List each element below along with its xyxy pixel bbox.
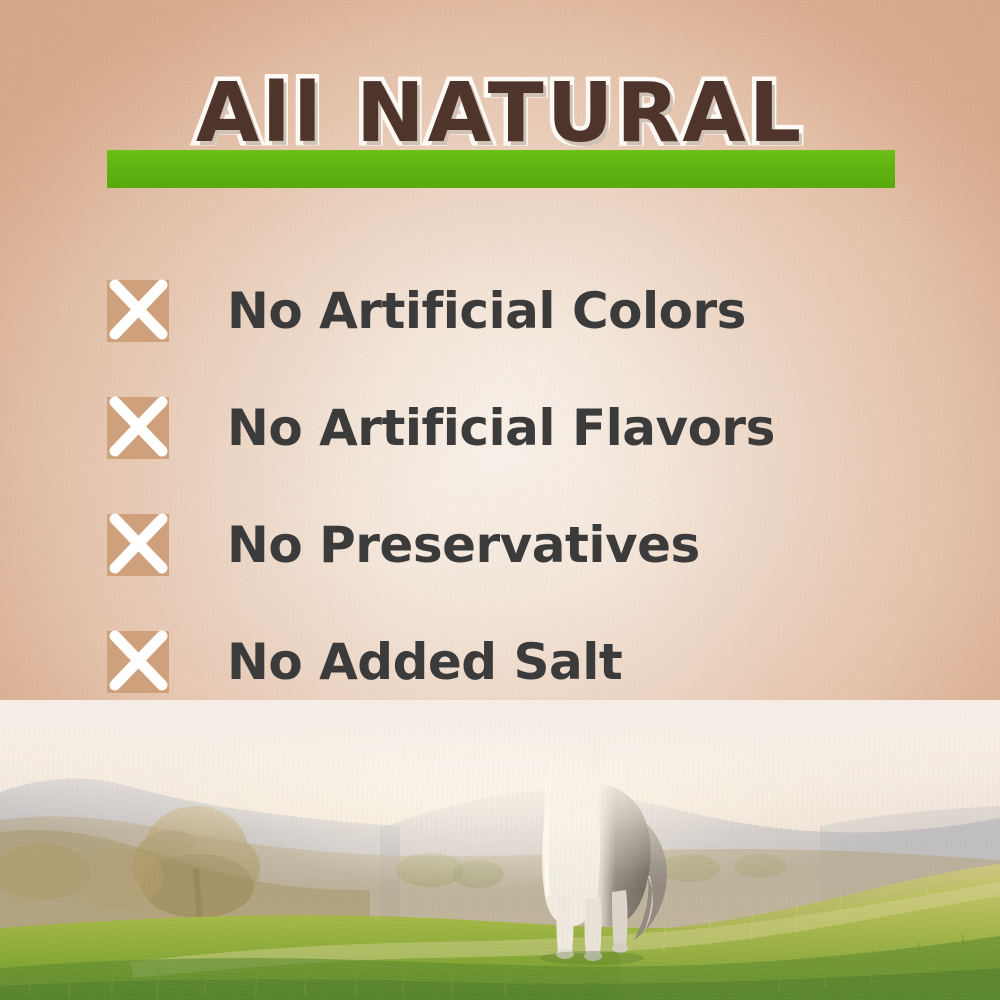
x-mark-icon xyxy=(107,514,169,576)
claim-label: No Preservatives xyxy=(227,517,700,573)
claim-label: No Artificial Colors xyxy=(227,283,746,339)
list-item: No Artificial Flavors xyxy=(107,369,927,486)
page-title: All NATURAL xyxy=(0,66,1000,162)
claim-label: No Artificial Flavors xyxy=(227,400,775,456)
x-mark-icon xyxy=(107,397,169,459)
list-item: No Artificial Colors xyxy=(107,252,927,369)
headline-block: All NATURAL xyxy=(0,66,1000,196)
landscape-photo xyxy=(0,700,1000,1000)
x-mark-icon xyxy=(107,631,169,693)
claims-list: No Artificial Colors No Artificial Flavo… xyxy=(107,252,927,720)
list-item: No Preservatives xyxy=(107,486,927,603)
x-mark-icon xyxy=(107,280,169,342)
all-natural-poster: All NATURAL No Artificial Colors No Arti… xyxy=(0,0,1000,1000)
claim-label: No Added Salt xyxy=(227,634,622,690)
